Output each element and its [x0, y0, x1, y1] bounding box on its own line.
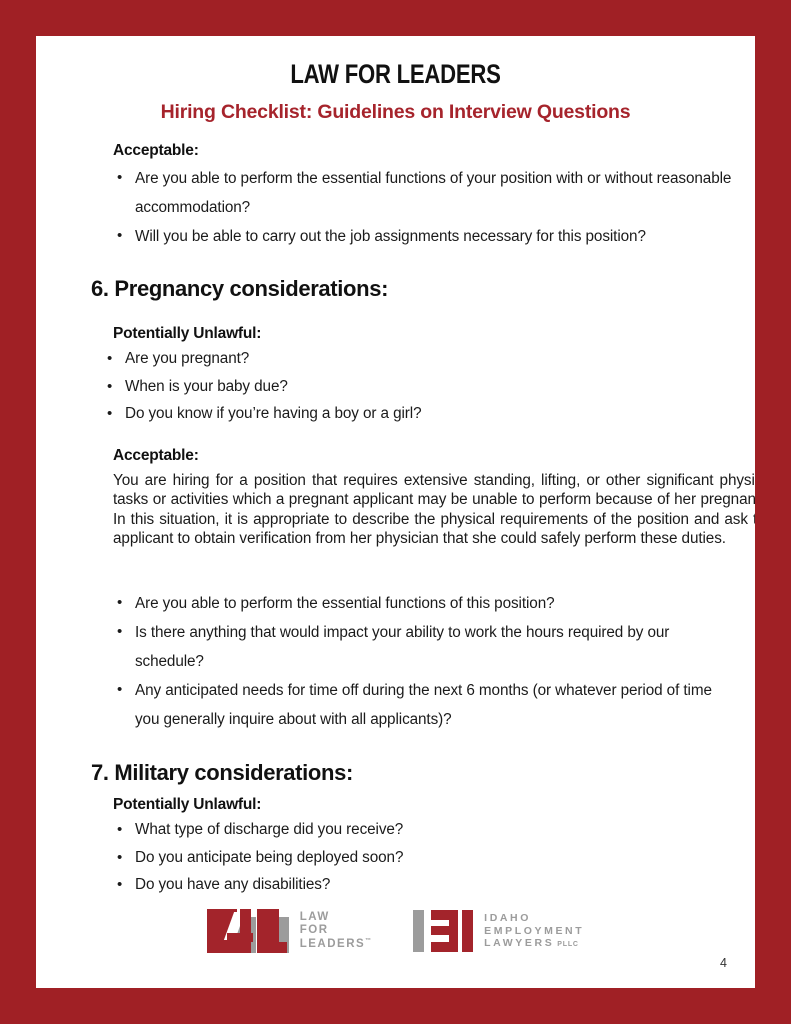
list-item: Any anticipated needs for time off durin…: [113, 676, 733, 734]
logo-line-3: LAWYERSPLLC: [484, 937, 584, 950]
document-title: LAW FOR LEADERS: [101, 36, 691, 90]
acceptable-label-text: Acceptable:: [113, 447, 199, 465]
military-unlawful-bullet-list: What type of discharge did you receive? …: [113, 819, 713, 902]
logo-entity-suffix: PLLC: [557, 941, 578, 949]
logo-line-3-text: LEADERS: [300, 938, 365, 950]
pregnancy-acceptable-paragraph: You are hiring for a position that requi…: [113, 471, 755, 549]
list-item: What type of discharge did you receive?: [113, 819, 713, 841]
idaho-employment-lawyers-logo: IDAHO EMPLOYMENT LAWYERSPLLC: [413, 910, 584, 952]
potentially-unlawful-label-text: Potentially Unlawful:: [113, 796, 261, 814]
page-border-frame: LAW FOR LEADERS Hiring Checklist: Guidel…: [0, 0, 791, 1024]
document-subtitle: Hiring Checklist: Guidelines on Intervie…: [36, 90, 755, 124]
list-item: Are you pregnant?: [103, 348, 703, 370]
potentially-unlawful-label-text: Potentially Unlawful:: [113, 325, 261, 343]
section-heading-pregnancy: 6. Pregnancy considerations:: [91, 276, 388, 302]
section-heading-text: 7. Military considerations:: [91, 760, 353, 786]
list-item: When is your baby due?: [103, 376, 703, 398]
page-number: 4: [720, 956, 727, 970]
section-heading-text: 6. Pregnancy considerations:: [91, 276, 388, 302]
list-item: Is there anything that would impact your…: [113, 618, 733, 676]
list-item: Are you able to perform the essential fu…: [113, 589, 733, 618]
list-item: Do you know if you’re having a boy or a …: [103, 403, 703, 425]
logo-line-2: FOR: [300, 924, 371, 937]
document-page: LAW FOR LEADERS Hiring Checklist: Guidel…: [36, 36, 755, 988]
acceptable-label-text: Acceptable:: [113, 142, 199, 160]
acceptable-label-continued: Acceptable:: [113, 142, 199, 160]
acceptable-label-pregnancy: Acceptable:: [113, 447, 199, 465]
acceptable-bullet-list-continued: Are you able to perform the essential fu…: [113, 164, 733, 251]
list-item: Do you have any disabilities?: [113, 874, 713, 896]
footer-logo-row: LAW FOR LEADERS™ IDAHO: [36, 909, 755, 953]
potentially-unlawful-label-military: Potentially Unlawful:: [113, 796, 261, 814]
list-item: Are you able to perform the essential fu…: [113, 164, 733, 222]
law-for-leaders-wordmark: LAW FOR LEADERS™: [300, 911, 371, 951]
potentially-unlawful-label-pregnancy: Potentially Unlawful:: [113, 325, 261, 343]
list-item: Will you be able to carry out the job as…: [113, 222, 733, 251]
l4l-monogram-icon: [207, 909, 289, 953]
logo-line-3: LEADERS™: [300, 938, 371, 951]
logo-line-3-text: LAWYERS: [484, 937, 554, 950]
iel-monogram-icon: [413, 910, 473, 952]
logo-line-1: IDAHO: [484, 912, 584, 925]
logo-line-2: EMPLOYMENT: [484, 925, 584, 938]
idaho-employment-lawyers-wordmark: IDAHO EMPLOYMENT LAWYERSPLLC: [484, 912, 584, 950]
trademark-symbol: ™: [365, 938, 371, 944]
pregnancy-unlawful-bullet-list: Are you pregnant? When is your baby due?…: [103, 348, 703, 431]
pregnancy-acceptable-bullet-list: Are you able to perform the essential fu…: [113, 589, 733, 734]
list-item: Do you anticipate being deployed soon?: [113, 847, 713, 869]
page-content: LAW FOR LEADERS Hiring Checklist: Guidel…: [36, 36, 755, 988]
section-heading-military: 7. Military considerations:: [91, 760, 353, 786]
logo-line-1: LAW: [300, 911, 371, 924]
law-for-leaders-logo: LAW FOR LEADERS™: [207, 909, 371, 953]
paragraph-text: You are hiring for a position that requi…: [113, 471, 755, 549]
